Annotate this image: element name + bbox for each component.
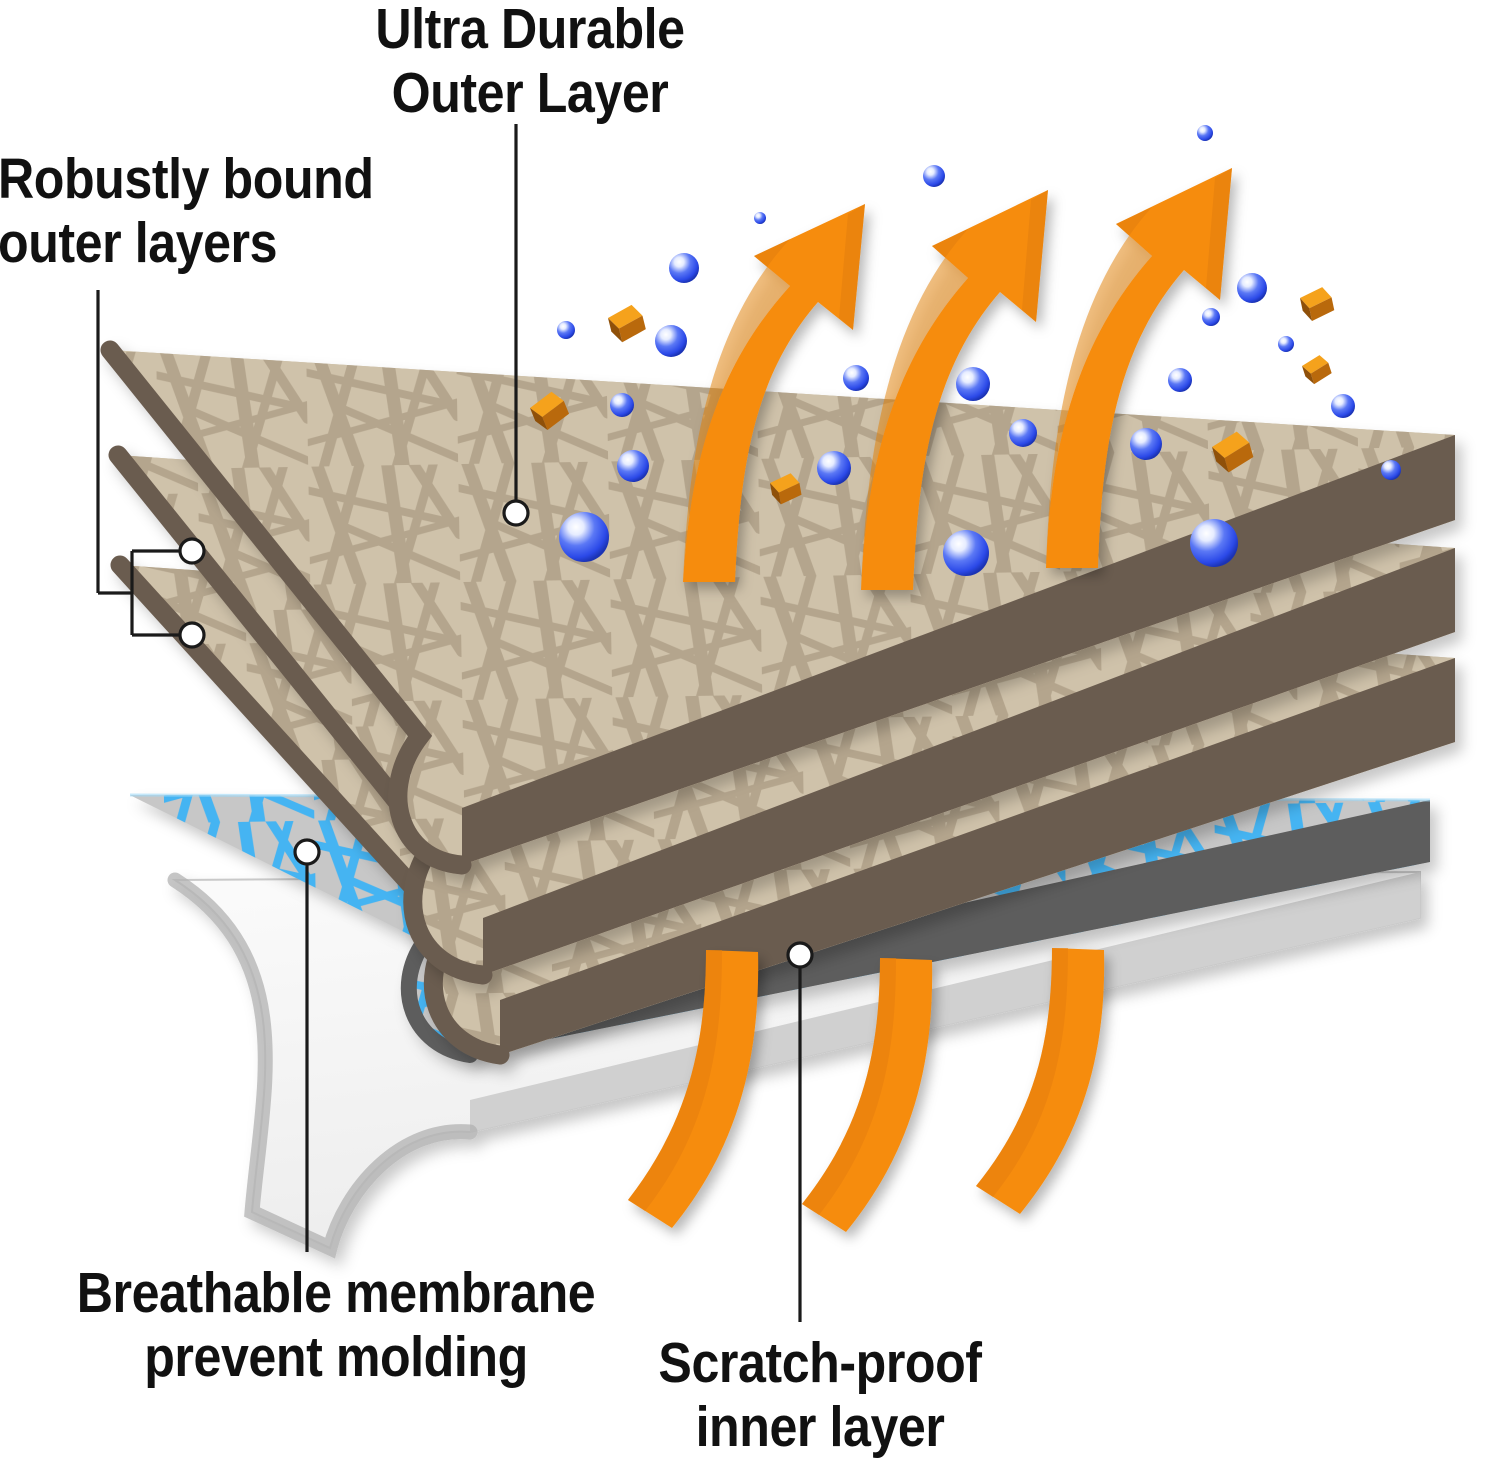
label-breathable-membrane-prevent-molding: Breathable membrane prevent molding <box>37 1262 635 1390</box>
droplet <box>943 530 989 576</box>
droplet <box>1381 460 1401 480</box>
droplet <box>1202 308 1220 326</box>
droplet <box>923 165 945 187</box>
droplet <box>1278 336 1294 352</box>
droplet <box>1197 125 1213 141</box>
dirt-cube <box>606 303 647 344</box>
droplet <box>843 365 869 391</box>
droplet <box>1168 368 1192 392</box>
droplet <box>754 212 766 224</box>
droplet <box>559 512 609 562</box>
droplet <box>617 450 649 482</box>
droplet <box>1009 419 1037 447</box>
droplet <box>610 393 634 417</box>
label-ultra-durable-outer-layer: Ultra Durable Outer Layer <box>354 0 706 126</box>
droplet <box>655 325 687 357</box>
label-scratch-proof-inner-layer: Scratch-proof inner layer <box>626 1332 1013 1460</box>
droplet <box>557 321 575 339</box>
layered-fabric-diagram: Ultra Durable Outer Layer Robustly bound… <box>0 0 1500 1475</box>
droplet <box>1190 519 1238 567</box>
dirt-cube <box>1300 353 1333 386</box>
label-robustly-bound-outer-layers: Robustly bound outer layers <box>0 148 412 276</box>
droplet <box>1130 428 1162 460</box>
dirt-cube <box>1299 286 1336 323</box>
droplet <box>669 253 699 283</box>
droplet <box>1331 394 1355 418</box>
droplet <box>956 367 990 401</box>
droplet <box>817 451 851 485</box>
droplet <box>1237 273 1267 303</box>
